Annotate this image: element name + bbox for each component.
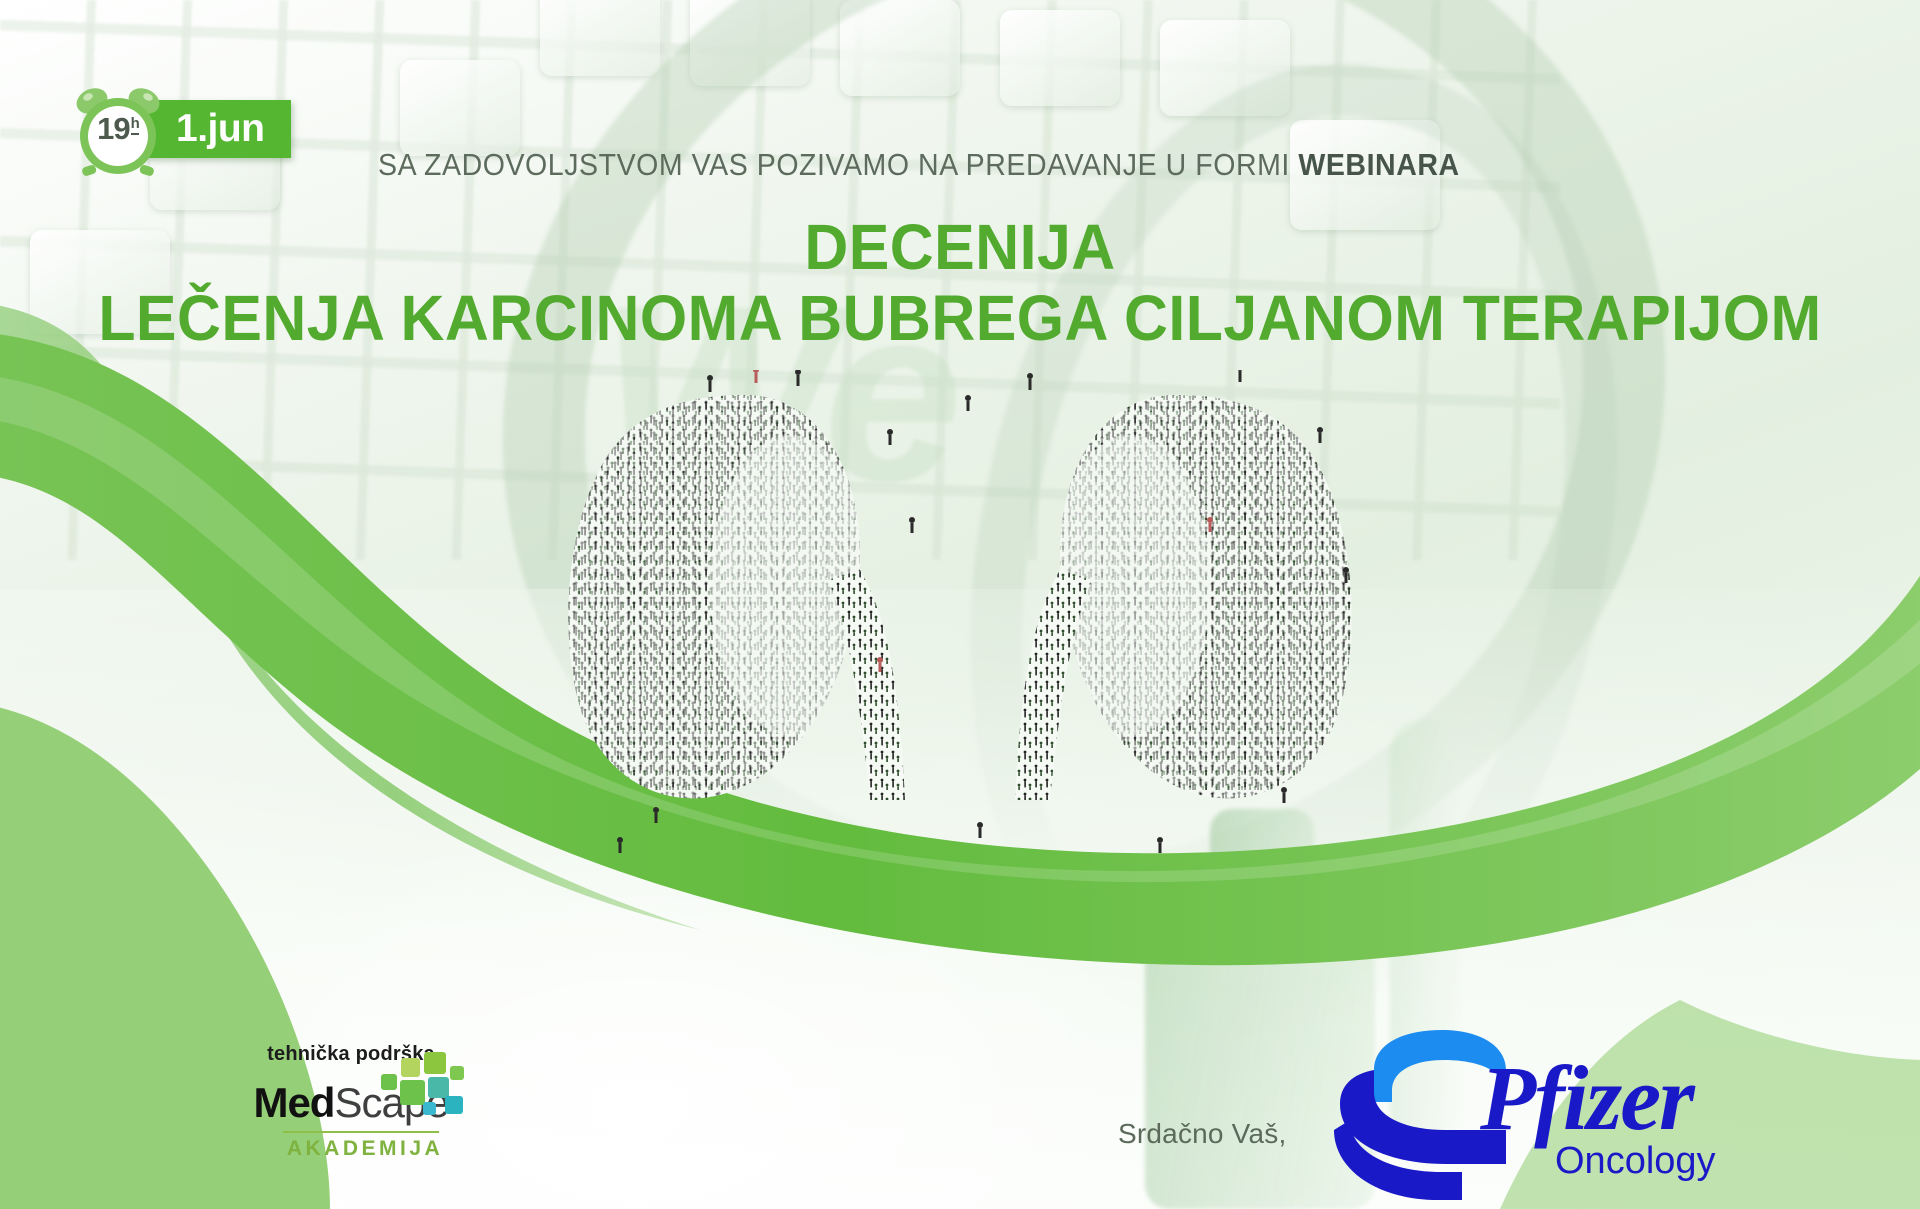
kidneys-crowd-illustration [560,370,1360,870]
pfizer-division-label: Oncology [1555,1142,1716,1180]
page-title: DECENIJA LEČENJA KARCINOMA BUBREGA CILJA… [0,215,1920,352]
alarm-clock-icon: 19h [72,84,164,176]
pfizer-wordmark: Pfizer [1480,1052,1693,1144]
webinar-invitation-banner: We [0,0,1920,1209]
title-line-2: LEČENJA KARCINOMA BUBREGA CILJANOM TERAP… [48,286,1872,351]
kicker-strong: WEBINARA [1298,147,1459,182]
kicker-prefix: SA ZADOVOLJSTVOM VAS POZIVAMO NA PREDAVA… [378,147,1298,182]
medscape-block: tehnička podrška MedScape AKADEMIJA [236,1043,466,1161]
kicker-line: SA ZADOVOLJSTVOM VAS POZIVAMO NA PREDAVA… [378,147,1460,183]
clock-hour: 19 [97,111,129,146]
background-key [540,0,660,76]
clock-hour-unit: h [131,115,139,135]
medscape-subtitle: AKADEMIJA [281,1137,448,1161]
date-badge: 19h 1.jun [72,96,291,162]
date-pill: 1.jun [142,100,291,158]
medscape-divider [283,1131,439,1133]
clock-time-label: 19h [72,113,164,144]
medscape-squares-icon [371,1052,457,1116]
medscape-word-med: Med [253,1079,334,1126]
pfizer-logo-block: Pfizer Oncology [1330,1030,1750,1200]
title-line-1: DECENIJA [48,215,1872,280]
background-key [400,60,520,156]
medscape-logo: MedScape AKADEMIJA [253,1082,448,1161]
signoff-text: Srdačno Vaš, [1118,1118,1286,1150]
